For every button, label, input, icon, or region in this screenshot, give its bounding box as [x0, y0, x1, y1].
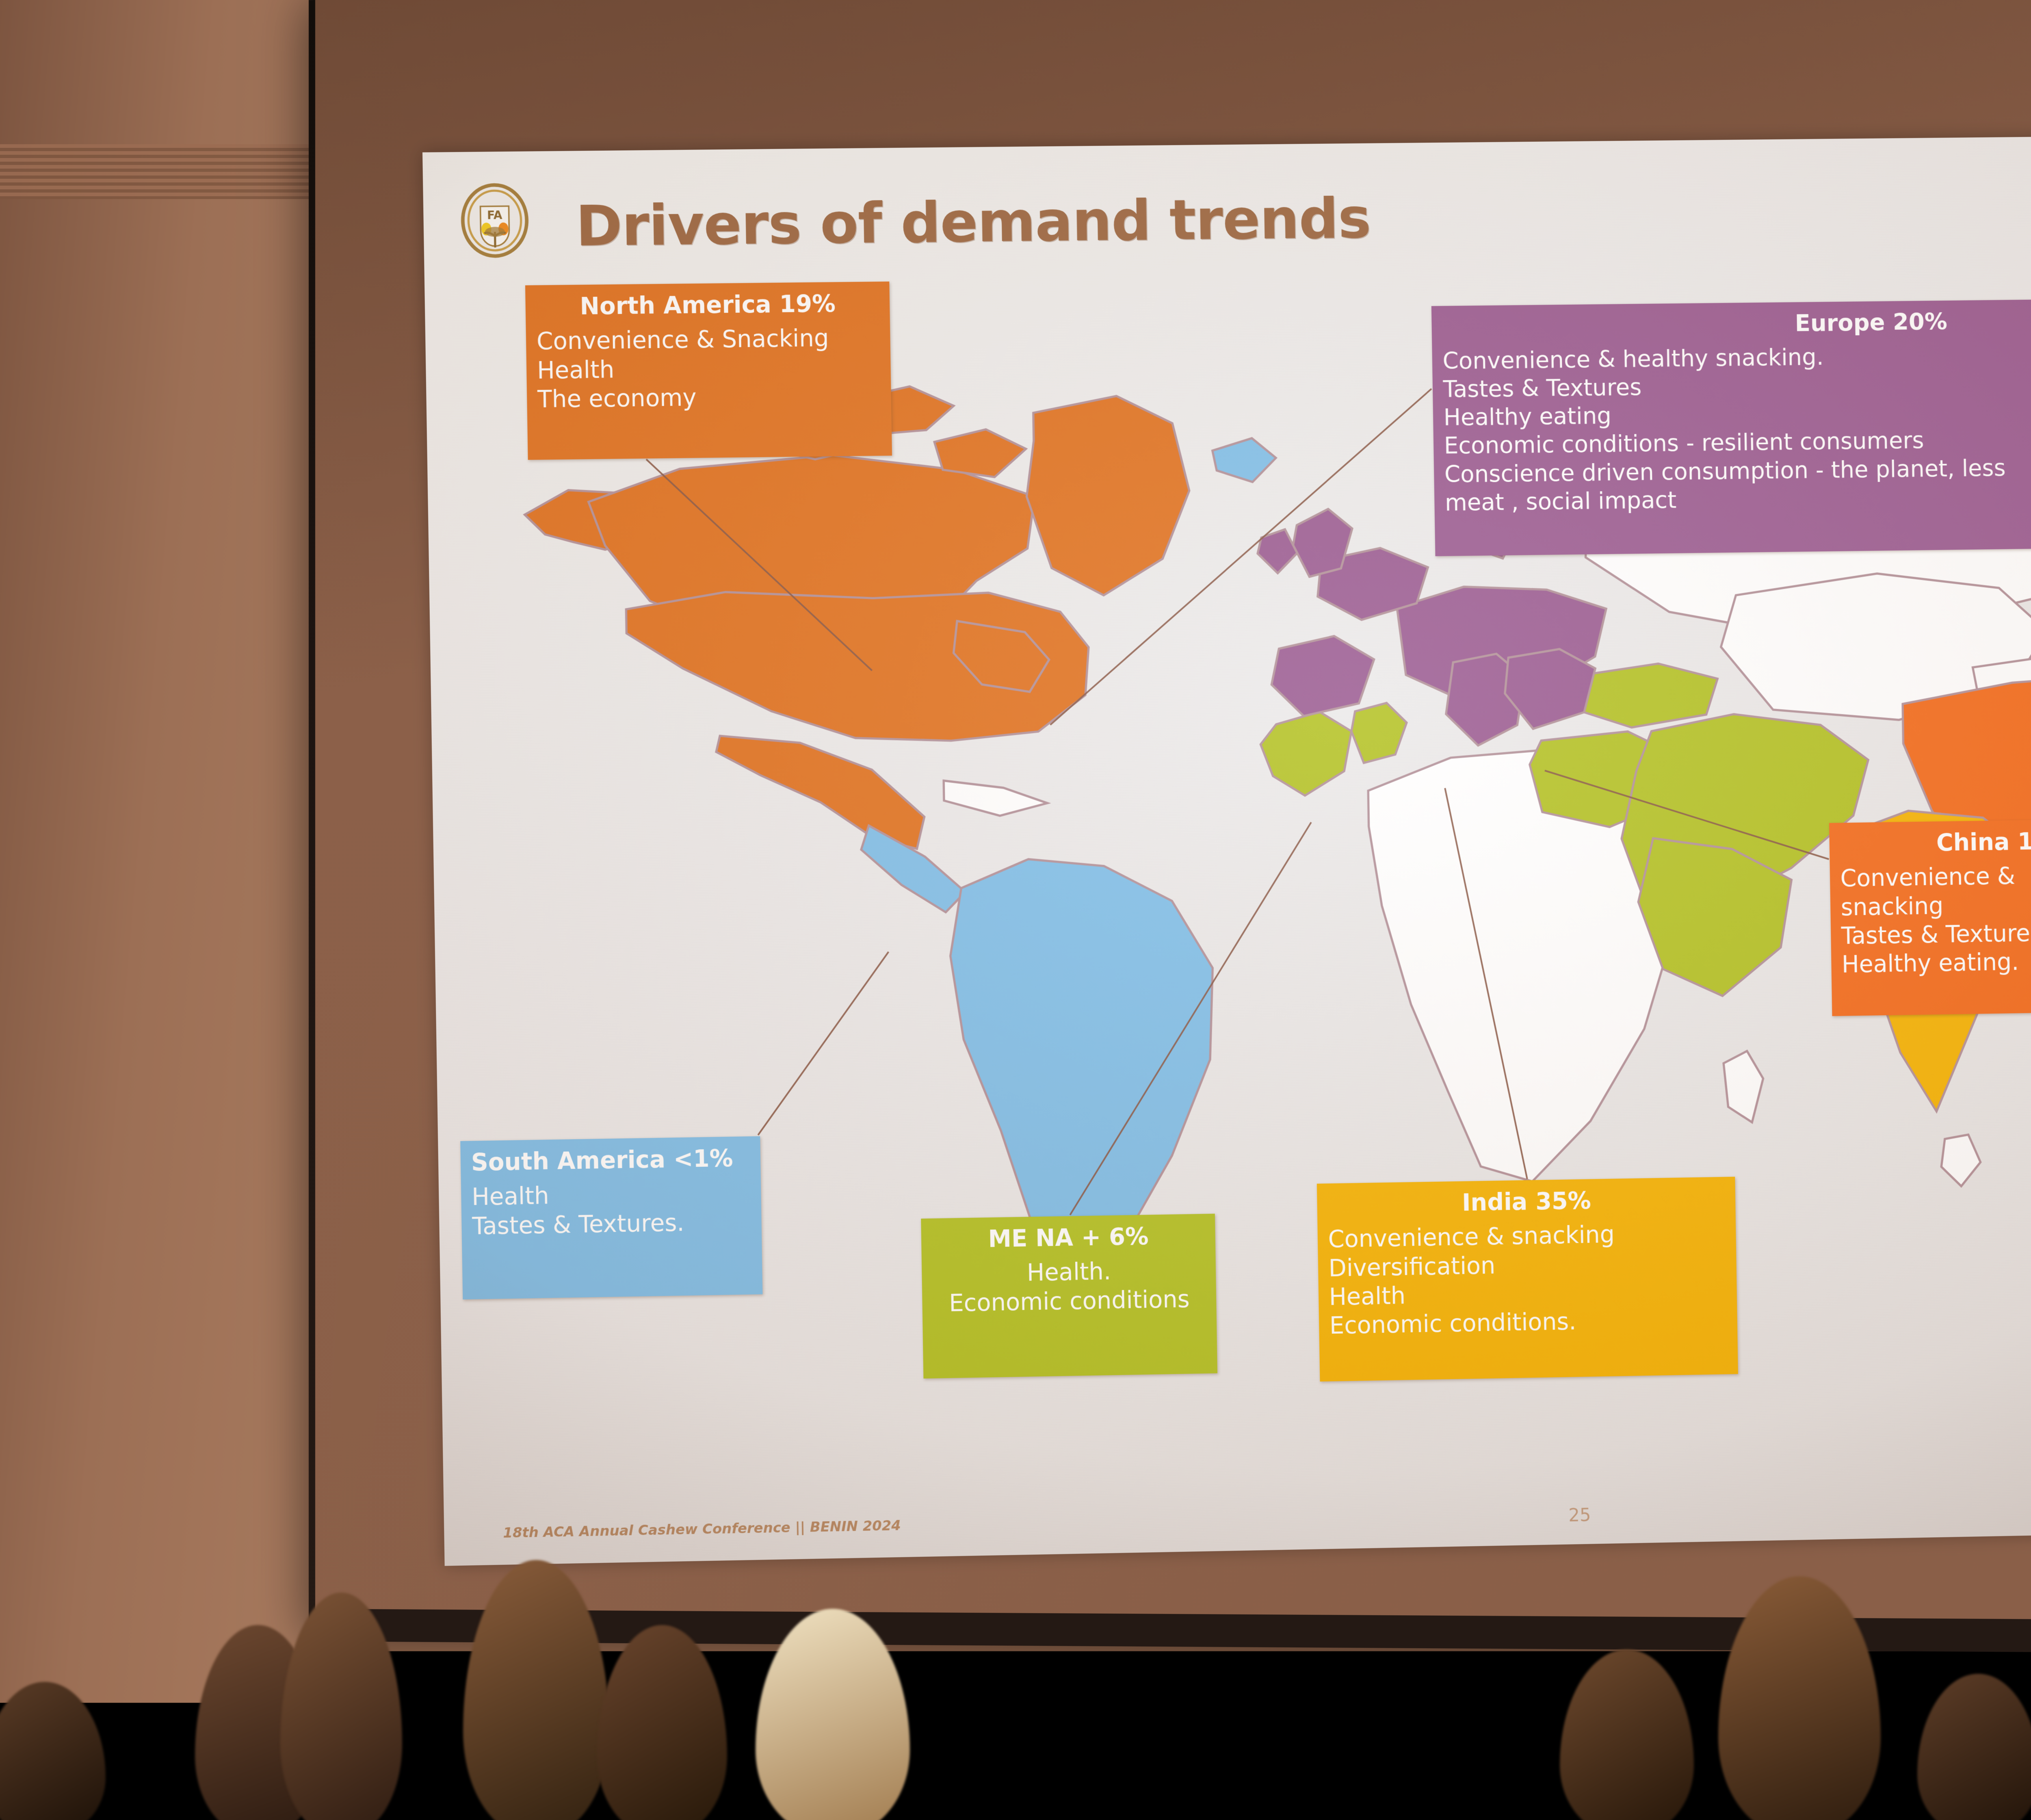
page-title: Drivers of demand trends	[575, 186, 1371, 259]
callout-header: Europe 20%	[1442, 304, 2031, 341]
callout-header: South America <1%	[471, 1144, 750, 1177]
presentation-slide: FA ACA Drivers of demand tre	[422, 133, 2031, 1566]
photo-canvas: FA ACA Drivers of demand tre	[0, 0, 2031, 1820]
callout-line: Convenience &	[1840, 860, 2031, 893]
slide-number: 25	[1568, 1505, 1591, 1526]
callout-line: Health	[537, 352, 881, 385]
callout-header: India 35%	[1327, 1184, 1725, 1220]
wall-moulding	[0, 144, 317, 199]
slide-footer-note: 18th ACA Annual Cashew Conference || BEN…	[503, 1517, 901, 1541]
svg-text:FA: FA	[487, 208, 502, 222]
callout-line: Health.	[932, 1256, 1206, 1289]
callout-line: Economic conditions	[933, 1285, 1206, 1318]
callout-india[interactable]: India 35% Convenience & snacking Diversi…	[1317, 1177, 1738, 1382]
presentation-slide-wrapper: FA ACA Drivers of demand tre	[422, 133, 2031, 1566]
callout-mena[interactable]: ME NA + 6% Health. Economic conditions	[921, 1213, 1217, 1378]
callout-line: Healthy eating.	[1841, 945, 2031, 979]
callout-europe[interactable]: Europe 20% Convenience & healthy snackin…	[1431, 297, 2031, 556]
callout-header: China 10%	[1840, 825, 2031, 859]
callout-china[interactable]: China 10% Convenience & snacking Tastes …	[1829, 818, 2031, 1016]
fao-seal-logo: FA	[459, 182, 531, 258]
callout-line: snacking	[1840, 888, 2031, 922]
callout-south-america[interactable]: South America <1% Health Tastes & Textur…	[460, 1136, 762, 1300]
callout-header: ME NA + 6%	[931, 1221, 1205, 1254]
wall-left-panel	[0, 0, 321, 1820]
callout-line: Convenience & Snacking	[537, 323, 880, 356]
callout-line: Tastes & Textures	[1841, 917, 2031, 951]
callout-north-america[interactable]: North America 19% Convenience & Snacking…	[525, 282, 892, 460]
callout-line: Tastes & Textures.	[472, 1207, 751, 1241]
callout-header: North America 19%	[536, 289, 879, 321]
callout-line: Health	[472, 1178, 751, 1212]
callout-line: The economy	[537, 381, 881, 414]
